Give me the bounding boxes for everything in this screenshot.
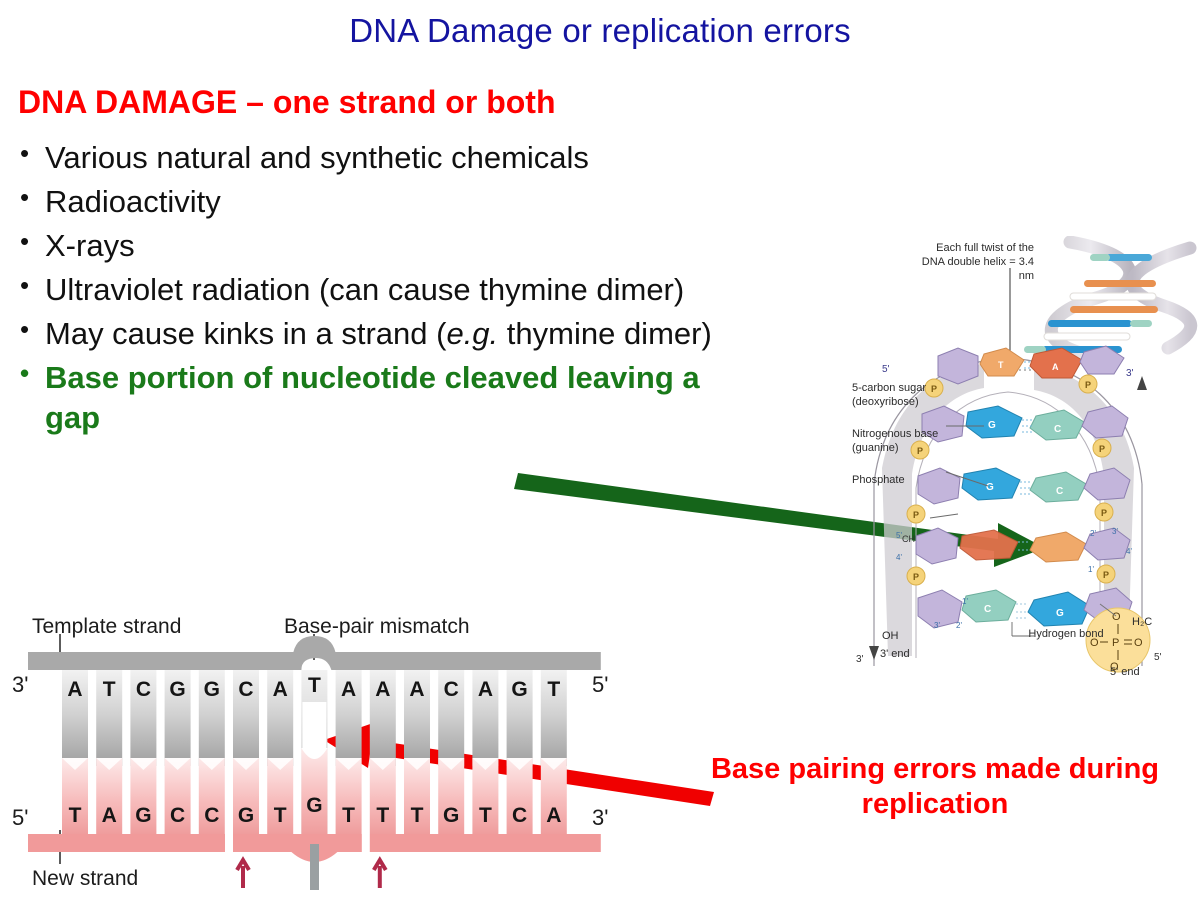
svg-text:T: T: [308, 674, 321, 697]
base-pair-row-3: P P: [907, 528, 1130, 585]
svg-text:G: G: [1056, 608, 1064, 619]
svg-text:T: T: [411, 804, 424, 827]
svg-text:A: A: [546, 804, 561, 827]
svg-text:T: T: [69, 804, 82, 827]
svg-text:C: C: [136, 678, 151, 701]
helix-label-nitrogenous-base: Nitrogenous base (guanine): [852, 428, 970, 456]
bullet-item-radioactivity: Radioactivity: [18, 180, 968, 224]
mismatch-illustration: ATTACGGCGCCGATTGATATATCGATGCTA: [8, 612, 628, 897]
svg-text:T: T: [103, 678, 116, 701]
svg-text:G: G: [306, 794, 322, 817]
svg-text:2': 2': [1090, 529, 1096, 538]
svg-text:C: C: [238, 678, 253, 701]
svg-text:4': 4': [1126, 547, 1132, 556]
svg-text:C: C: [1056, 486, 1063, 497]
svg-text:T: T: [998, 360, 1004, 370]
svg-text:T: T: [376, 804, 389, 827]
label-template-strand: Template strand: [32, 615, 181, 639]
bullet-item-uv: Ultraviolet radiation (can cause thymine…: [18, 268, 968, 312]
svg-text:P: P: [1085, 380, 1091, 390]
bullet-item-base-cleaved: Base portion of nucleotide cleaved leavi…: [18, 358, 745, 439]
svg-text:G: G: [169, 678, 185, 701]
bullet-item-kinks: May cause kinks in a strand (e.g. thymin…: [18, 312, 968, 356]
dna-double-helix-figure: Each full twist of the DNA double helix …: [838, 236, 1200, 696]
svg-text:C: C: [984, 604, 991, 615]
svg-text:4': 4': [896, 553, 902, 562]
svg-text:T: T: [547, 678, 560, 701]
bullet-list: Various natural and synthetic chemicals …: [18, 136, 968, 439]
helix-label-5-prime-end: 5' end: [1110, 666, 1140, 680]
page-title: DNA Damage or replication errors: [0, 12, 1200, 50]
svg-text:A: A: [273, 678, 288, 701]
svg-text:C: C: [1054, 424, 1061, 435]
helix-label-hydrogen-bond: Hydrogen bond: [1006, 628, 1126, 642]
svg-text:O: O: [1112, 611, 1121, 623]
prime-template-left: 3': [12, 672, 28, 698]
bullet-kinks-after: thymine dimer): [498, 316, 712, 351]
svg-text:3': 3': [1112, 527, 1118, 536]
label-base-pair-mismatch: Base-pair mismatch: [284, 615, 470, 639]
svg-text:A: A: [1052, 362, 1059, 372]
svg-text:A: A: [478, 678, 493, 701]
svg-text:G: G: [443, 804, 459, 827]
svg-text:T: T: [479, 804, 492, 827]
base-pair-mismatch-figure: Template strand Base-pair mismatch New s…: [8, 612, 628, 897]
svg-text:G: G: [988, 420, 996, 431]
svg-text:G: G: [135, 804, 151, 827]
svg-text:2': 2': [956, 621, 962, 630]
prime-new-left: 5': [12, 805, 28, 831]
svg-text:T: T: [274, 804, 287, 827]
svg-text:1': 1': [1088, 565, 1094, 574]
svg-text:1': 1': [962, 597, 968, 606]
svg-text:G: G: [986, 482, 994, 493]
svg-text:G: G: [204, 678, 220, 701]
svg-text:A: A: [67, 678, 82, 701]
svg-text:T: T: [342, 804, 355, 827]
helix-label-h2c: H₂C: [1132, 616, 1152, 630]
svg-text:A: A: [375, 678, 390, 701]
svg-text:C: C: [444, 678, 459, 701]
helix-label-phosphate: Phosphate: [852, 474, 952, 488]
bullet-kinks-eg: e.g.: [446, 316, 498, 351]
svg-text:P: P: [913, 510, 919, 520]
svg-text:P: P: [913, 572, 919, 582]
damage-heading: DNA DAMAGE – one strand or both: [18, 84, 555, 121]
svg-text:P: P: [1099, 444, 1105, 454]
helix-label-oh: OH: [882, 630, 899, 644]
svg-text:C: C: [512, 804, 527, 827]
svg-text:5': 5': [1154, 652, 1162, 663]
bullet-item-xrays: X-rays: [18, 224, 968, 268]
svg-text:5': 5': [882, 364, 890, 375]
helix-label-sugar: 5-carbon sugar (deoxyribose): [852, 382, 970, 410]
svg-text:A: A: [409, 678, 424, 701]
bullet-kinks-before: May cause kinks in a strand (: [45, 316, 446, 351]
svg-text:P: P: [1101, 508, 1107, 518]
svg-text:A: A: [341, 678, 356, 701]
svg-text:CH: CH: [902, 534, 915, 544]
helix-label-3-prime-end: 3' end: [880, 648, 910, 662]
svg-text:3': 3': [934, 621, 940, 630]
svg-text:C: C: [170, 804, 185, 827]
svg-text:G: G: [511, 678, 527, 701]
prime-template-right: 5': [592, 672, 608, 698]
label-new-strand: New strand: [32, 867, 138, 891]
svg-text:3': 3': [856, 654, 864, 665]
helix-twist-caption: Each full twist of the DNA double helix …: [916, 242, 1034, 283]
svg-text:P: P: [1103, 570, 1109, 580]
replication-error-note: Base pairing errors made during replicat…: [700, 752, 1170, 823]
svg-text:C: C: [204, 804, 219, 827]
svg-text:3': 3': [1126, 368, 1134, 379]
prime-new-right: 3': [592, 805, 608, 831]
slide-canvas: DNA Damage or replication errors DNA DAM…: [0, 0, 1200, 900]
svg-text:A: A: [102, 804, 117, 827]
svg-text:O: O: [1134, 637, 1143, 649]
bullet-item-chemicals: Various natural and synthetic chemicals: [18, 136, 968, 180]
svg-text:G: G: [238, 804, 254, 827]
